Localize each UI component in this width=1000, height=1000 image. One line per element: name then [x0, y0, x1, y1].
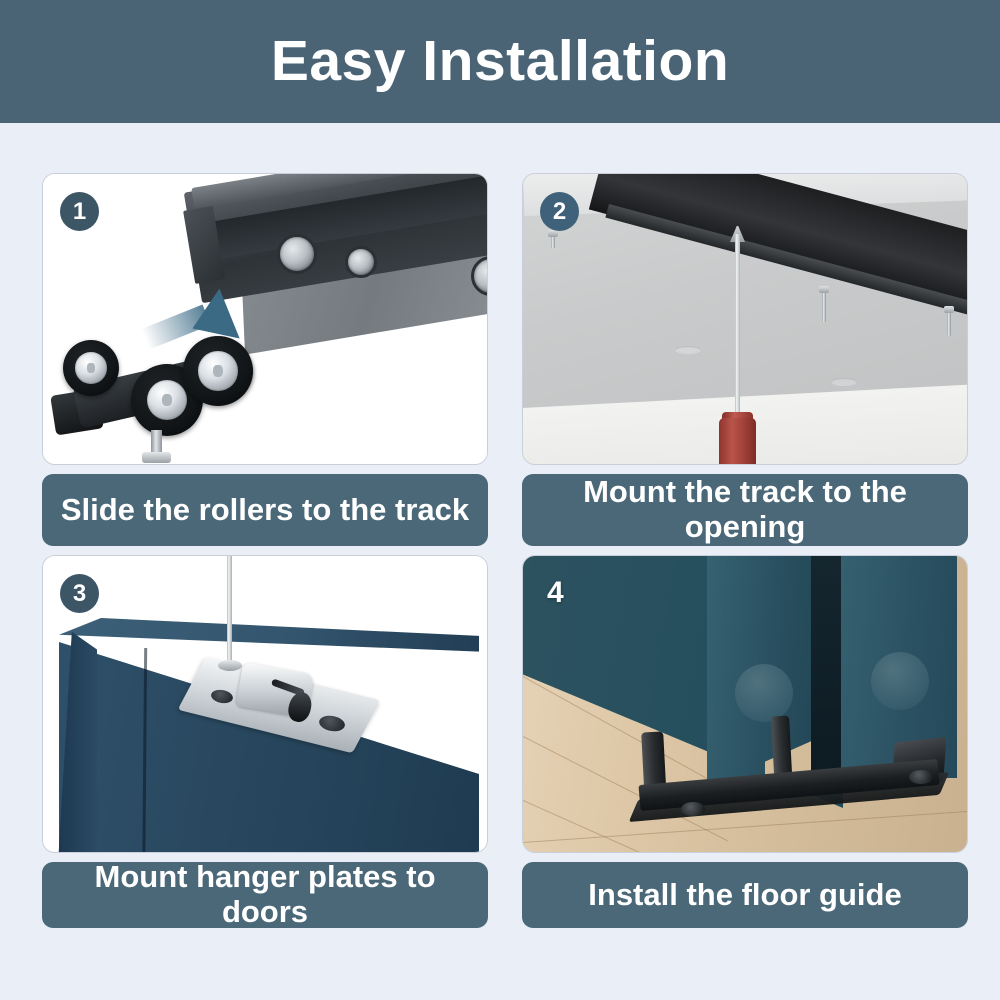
step-4-image: 4	[522, 555, 968, 853]
ceiling-dimple	[675, 346, 701, 354]
roller-wheel-icon	[63, 340, 119, 396]
step-card-1: 1 Slide the rollers to the track	[42, 173, 488, 546]
step-number-badge-3: 3	[60, 574, 99, 613]
track-wheel-icon	[277, 234, 317, 274]
step-4-illustration	[523, 556, 967, 852]
step-number-badge-1: 1	[60, 192, 99, 231]
screwdriver-shaft	[735, 234, 740, 426]
track-wheel-icon	[345, 246, 377, 278]
screw-icon	[947, 310, 951, 336]
step-caption-1: Slide the rollers to the track	[42, 474, 488, 546]
floor-guide-screw	[909, 770, 933, 784]
door-gap-shadow	[809, 556, 843, 774]
step-card-2: 2 Mount the track to the opening	[522, 173, 968, 546]
step-1-illustration	[43, 174, 487, 464]
floor-guide-screw	[681, 802, 705, 816]
screw-icon	[822, 290, 826, 322]
screwdriver-handle	[719, 418, 756, 464]
roller-adjustment-bolt	[151, 430, 162, 456]
step-number-badge-4: 4	[547, 578, 564, 608]
roller-wheel-icon	[183, 336, 253, 406]
ceiling-dimple	[831, 378, 857, 386]
step-2-image: 2	[522, 173, 968, 465]
step-card-4: 4 Install the floor guide	[522, 555, 968, 928]
installation-steps-grid: 1 Slide the rollers to the track	[42, 173, 968, 928]
step-card-3: 3 Mount hanger plates to doors	[42, 555, 488, 928]
screw-icon	[551, 234, 555, 248]
page-header: Easy Installation	[0, 0, 1000, 123]
step-caption-4: Install the floor guide	[522, 862, 968, 928]
step-3-image: 3	[42, 555, 488, 853]
rod-nut	[218, 660, 242, 671]
page-title: Easy Installation	[271, 33, 729, 90]
step-number-badge-2: 2	[540, 192, 579, 231]
step-caption-2: Mount the track to the opening	[522, 474, 968, 546]
door-knob	[871, 652, 929, 710]
step-3-illustration	[43, 556, 487, 852]
suspension-rod	[227, 556, 232, 666]
step-1-image: 1	[42, 173, 488, 465]
step-caption-3: Mount hanger plates to doors	[42, 862, 488, 928]
step-2-illustration	[523, 174, 967, 464]
door-knob	[735, 664, 793, 722]
